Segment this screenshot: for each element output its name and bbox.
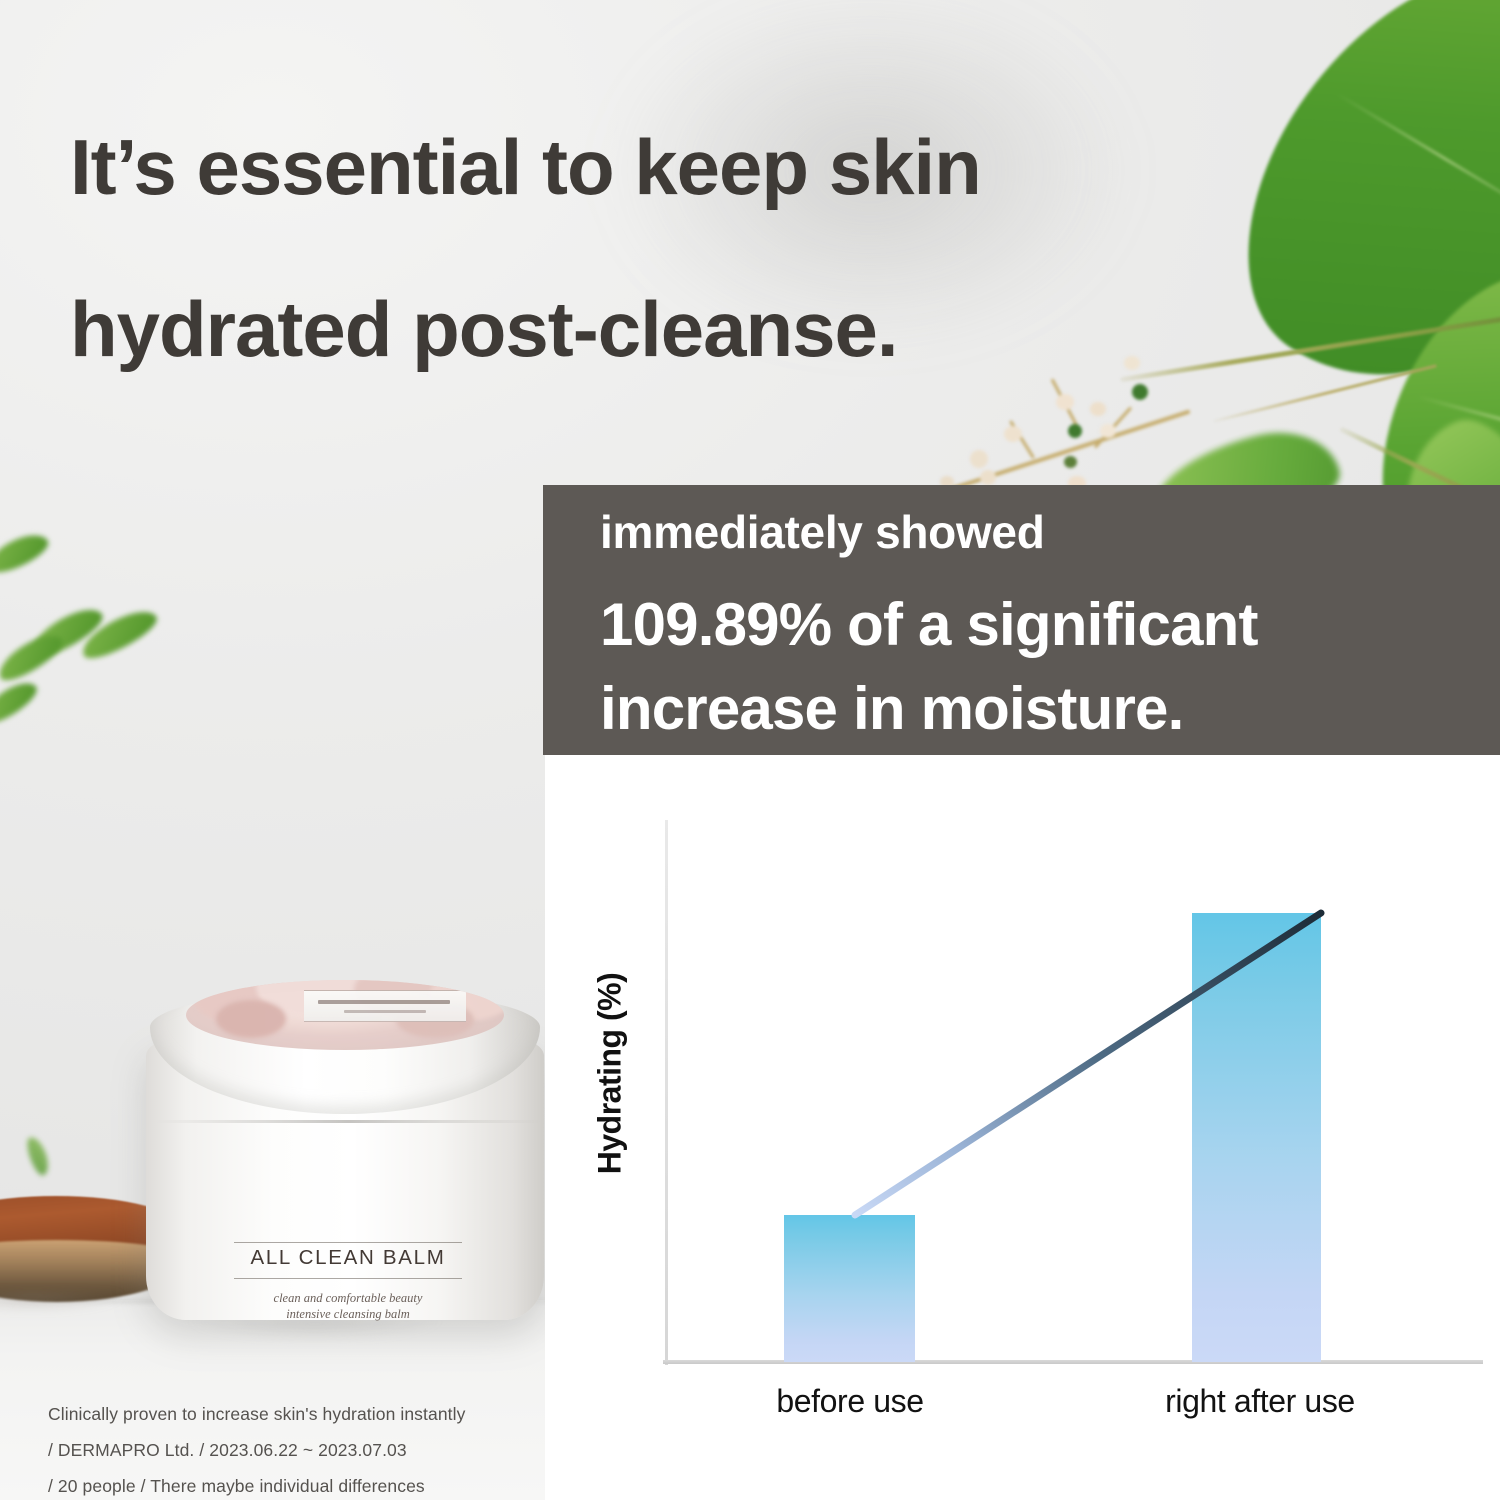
footnote-line-2: / DERMAPRO Ltd. / 2023.06.22 ~ 2023.07.0…	[48, 1432, 548, 1468]
callout-subtext: immediately showed	[600, 505, 1500, 559]
flower-bud	[1068, 424, 1082, 438]
callout-statistic: 109.89% of a significant increase in moi…	[600, 583, 1500, 751]
callout-statistic-line-2: increase in moisture.	[600, 675, 1183, 742]
chart-bar-right-after-use	[1192, 913, 1321, 1362]
product-tagline: clean and comfortable beauty intensive c…	[214, 1290, 482, 1322]
callout-statistic-line-1: 109.89% of a significant	[600, 591, 1258, 658]
flower-bud	[1004, 426, 1022, 442]
jar-lid-seam	[156, 1120, 542, 1123]
headline-line-1: It’s essential to keep skin	[70, 86, 1250, 248]
leaf-vein	[1336, 92, 1500, 224]
flower-bud	[970, 450, 988, 468]
study-footnote: Clinically proven to increase skin's hyd…	[48, 1396, 548, 1500]
jar-lid-top-pattern	[186, 980, 504, 1050]
headline-line-2: hydrated post-cleanse.	[70, 248, 1250, 410]
promo-image-canvas: ALL CLEAN BALM clean and comfortable bea…	[0, 0, 1500, 1500]
jar-rule-bottom	[234, 1278, 462, 1279]
page-title: It’s essential to keep skin hydrated pos…	[70, 86, 1250, 410]
jar-rule-top	[234, 1242, 462, 1243]
jar-reflection	[150, 1318, 480, 1346]
product-name: ALL CLEAN BALM	[234, 1246, 462, 1270]
lid-floral-petal	[216, 1000, 286, 1038]
chart-xtick-right-after-use: right after use	[1085, 1383, 1435, 1420]
footnote-line-1: Clinically proven to increase skin's hyd…	[48, 1396, 548, 1432]
lid-label-text-line	[318, 1000, 450, 1004]
hydration-bar-chart: Hydrating (%) before use right after use	[545, 755, 1500, 1500]
jar-lid-label	[304, 990, 466, 1022]
chart-y-axis-label: Hydrating (%)	[592, 949, 629, 1199]
bowl-shadow	[0, 1294, 170, 1316]
chart-xtick-before-use: before use	[695, 1383, 1005, 1420]
flower-bud	[1100, 424, 1116, 438]
lid-label-text-line	[344, 1010, 426, 1013]
product-tagline-line1: clean and comfortable beauty	[274, 1291, 423, 1305]
footnote-line-3: / 20 people / There maybe individual dif…	[48, 1468, 548, 1500]
product-jar: ALL CLEAN BALM clean and comfortable bea…	[146, 984, 544, 1320]
flower-bud	[980, 470, 996, 485]
chart-y-axis	[665, 820, 668, 1365]
product-tagline-line2: intensive cleansing balm	[286, 1307, 410, 1321]
chart-bar-before-use	[784, 1215, 915, 1362]
flower-bud	[1064, 456, 1077, 468]
